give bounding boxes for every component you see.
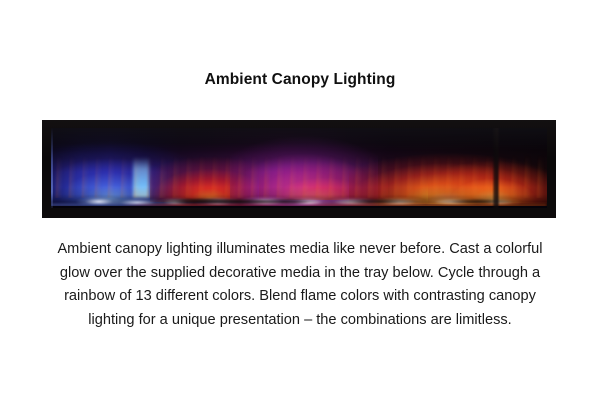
description-line: glow over the supplied decorative media … (30, 262, 570, 286)
glass-left-edge-highlight (51, 128, 53, 208)
page-root: Ambient Canopy Lighting (0, 0, 600, 400)
log-media (51, 195, 547, 205)
decorative-media-bed (51, 187, 547, 208)
description-line: lighting for a unique presentation – the… (30, 309, 570, 333)
media-tray-lip (51, 206, 547, 208)
description-paragraph: Ambient canopy lighting illuminates medi… (30, 238, 570, 332)
description-line: rainbow of 13 different colors. Blend fl… (30, 285, 570, 309)
inner-bezel-post (492, 128, 499, 208)
page-title: Ambient Canopy Lighting (0, 71, 600, 89)
fireplace-firebox (51, 128, 547, 208)
description-line: Ambient canopy lighting illuminates medi… (30, 238, 570, 262)
fireplace-product-image (42, 120, 556, 218)
